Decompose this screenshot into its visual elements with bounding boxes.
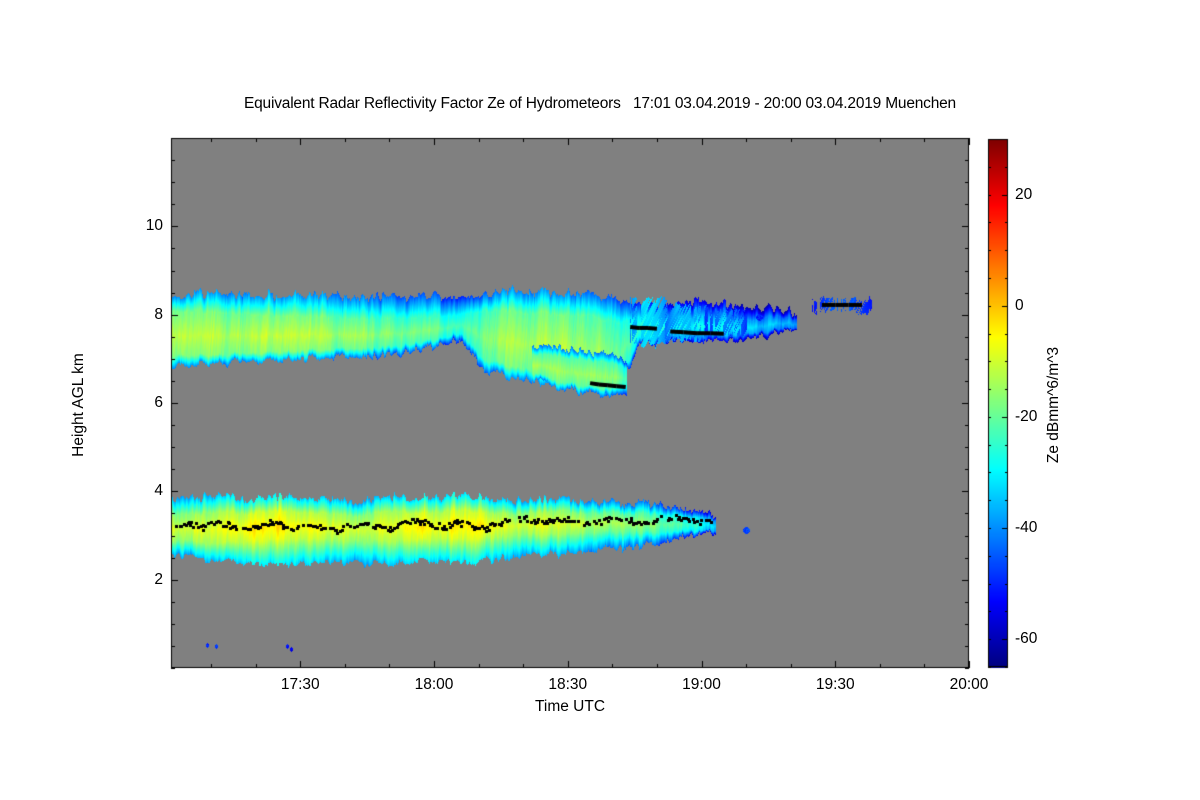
y-tick-label-3: 8 (123, 306, 163, 324)
colorbar-tick-label-0: -60 (1015, 630, 1075, 648)
x-tick-label-1: 18:00 (415, 676, 454, 694)
x-axis-label: Time UTC (0, 698, 1140, 716)
x-tick-label-0: 17:30 (281, 676, 320, 694)
reflectivity-heatmap-canvas (0, 0, 1200, 800)
radar-reflectivity-figure: Equivalent Radar Reflectivity Factor Ze … (0, 0, 1200, 800)
x-tick-label-3: 19:00 (682, 676, 721, 694)
colorbar-tick-label-3: 0 (1015, 297, 1075, 315)
x-tick-label-4: 19:30 (816, 676, 855, 694)
y-tick-label-1: 4 (123, 482, 163, 500)
y-tick-label-0: 2 (123, 571, 163, 589)
colorbar-tick-label-1: -40 (1015, 519, 1075, 537)
x-tick-label-5: 20:00 (950, 676, 989, 694)
y-tick-label-2: 6 (123, 394, 163, 412)
y-axis-label: Height AGL km (70, 255, 88, 555)
colorbar-tick-label-2: -20 (1015, 408, 1075, 426)
x-tick-label-2: 18:30 (548, 676, 587, 694)
y-tick-label-4: 10 (123, 217, 163, 235)
colorbar-tick-label-4: 20 (1015, 186, 1075, 204)
